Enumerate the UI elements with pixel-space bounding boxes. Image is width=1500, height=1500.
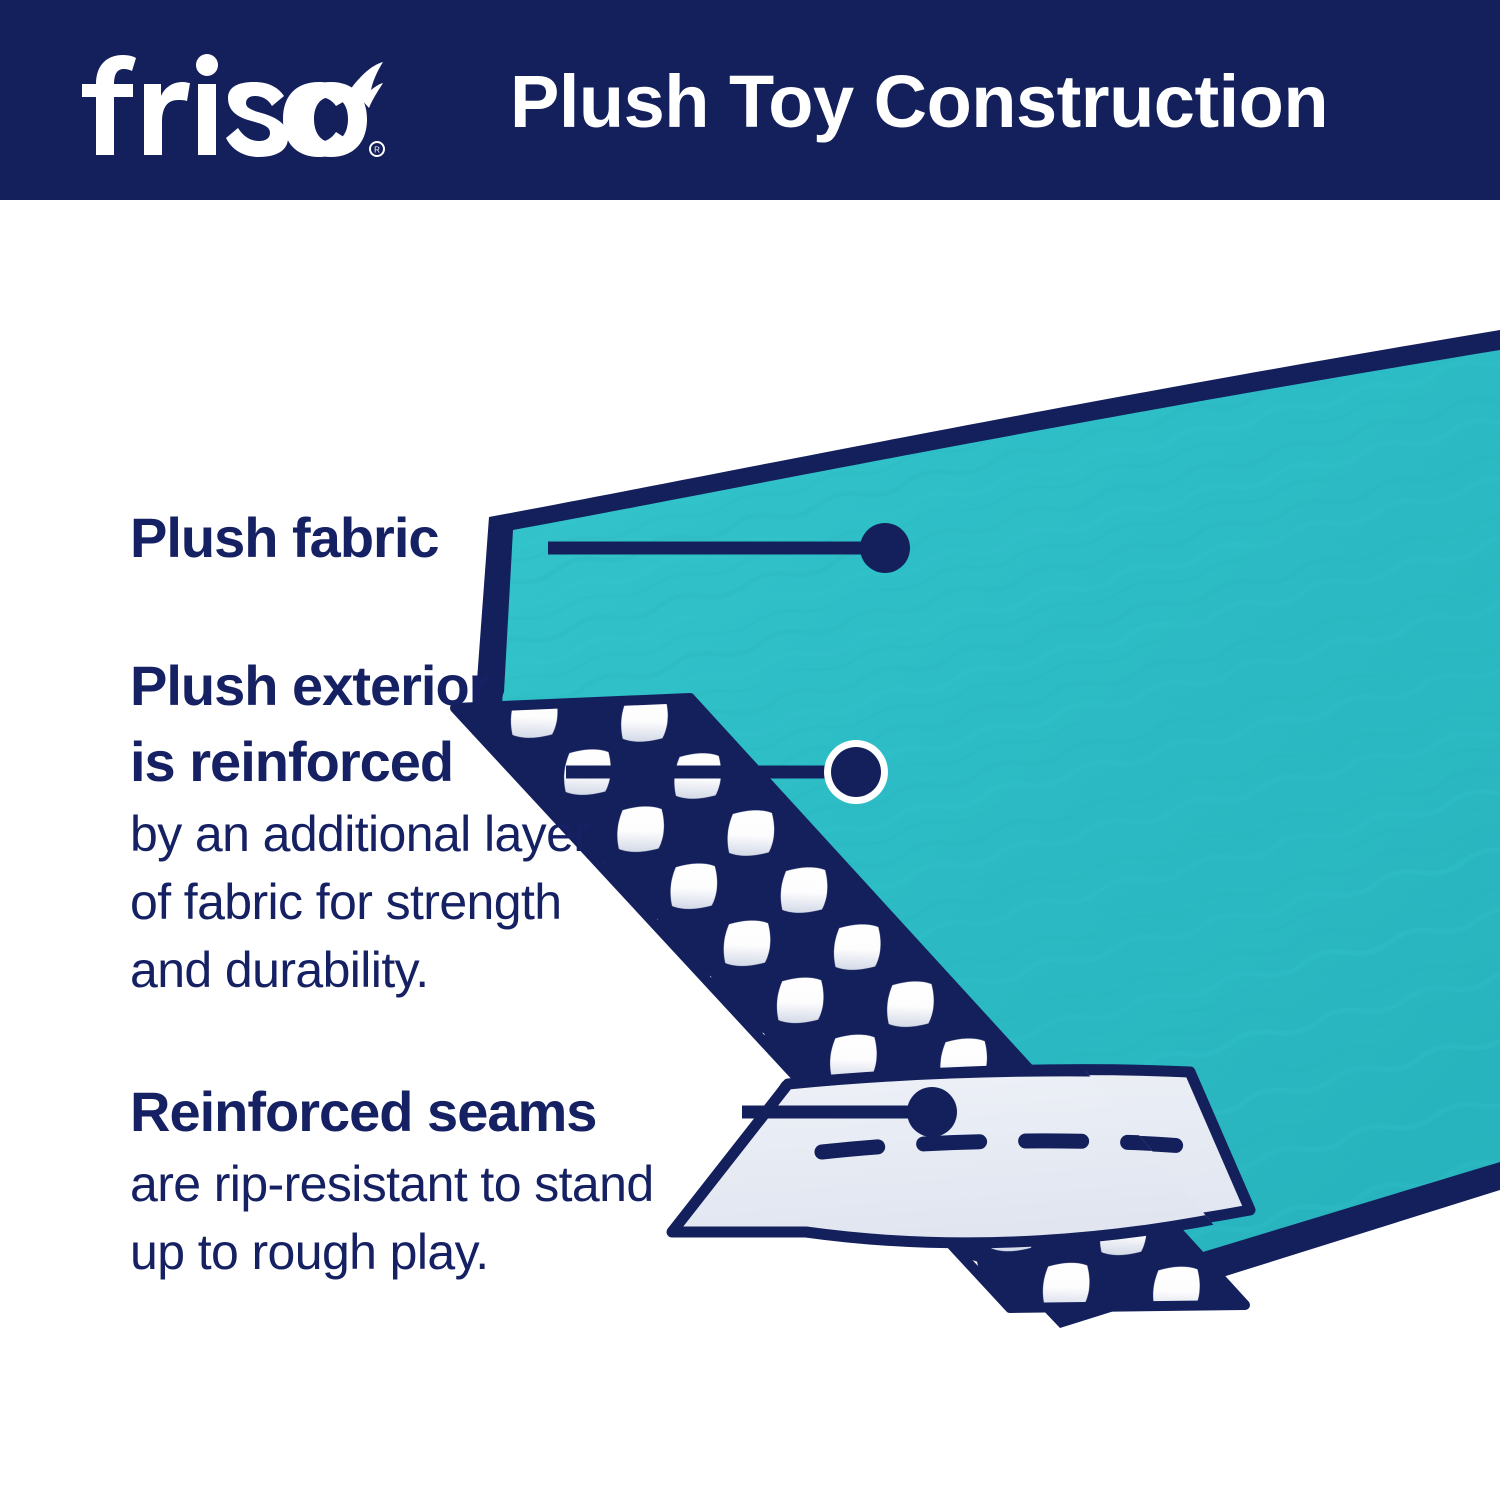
callout-heading-line: Plush exterior	[130, 648, 589, 724]
callout-body-line: of fabric for strength	[130, 868, 589, 936]
callout-heading-line: Plush fabric	[130, 500, 439, 576]
callout-plush-exterior: Plush exterior is reinforced by an addit…	[130, 648, 589, 1004]
callout-body-line: by an additional layer	[130, 800, 589, 868]
callout-body-line: and durability.	[130, 936, 589, 1004]
header-bar: R Plush Toy Construction	[0, 0, 1500, 200]
callout-heading-line: is reinforced	[130, 724, 589, 800]
callout-reinforced-seams: Reinforced seams are rip-resistant to st…	[130, 1074, 654, 1286]
page-title: Plush Toy Construction	[510, 52, 1390, 152]
frisco-logo: R	[78, 52, 398, 158]
callout-body-line: are rip-resistant to stand	[130, 1150, 654, 1218]
callout-body-line: up to rough play.	[130, 1218, 654, 1286]
callout-heading-line: Reinforced seams	[130, 1074, 654, 1150]
callout-plush-fabric: Plush fabric	[130, 500, 439, 576]
svg-text:R: R	[374, 146, 380, 155]
infographic-page: R Plush Toy Construction	[0, 0, 1500, 1500]
